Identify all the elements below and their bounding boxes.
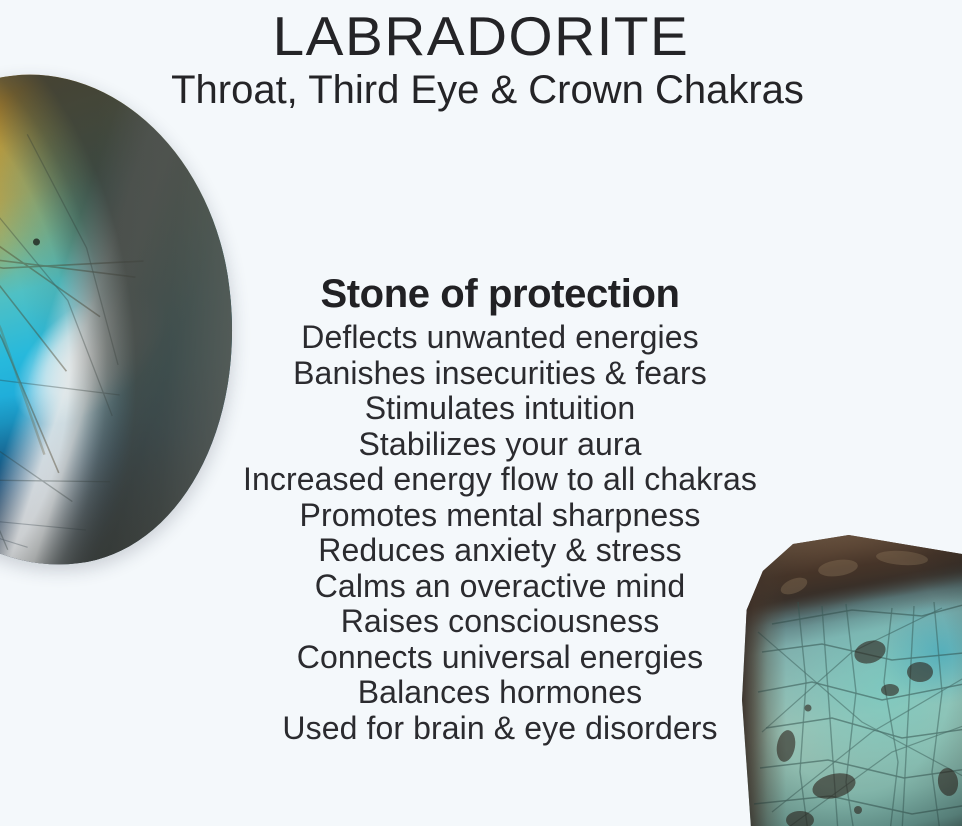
benefit-item: Raises consciousness bbox=[0, 604, 962, 640]
benefit-item: Calms an overactive mind bbox=[0, 569, 962, 605]
benefit-item: Balances hormones bbox=[0, 675, 962, 711]
benefit-item: Reduces anxiety & stress bbox=[0, 533, 962, 569]
benefit-item: Increased energy flow to all chakras bbox=[0, 462, 962, 498]
benefits-block: Stone of protection Deflects unwanted en… bbox=[0, 270, 962, 746]
benefit-item: Stabilizes your aura bbox=[0, 427, 962, 463]
benefit-item: Deflects unwanted energies bbox=[0, 320, 962, 356]
benefit-item: Banishes insecurities & fears bbox=[0, 356, 962, 392]
benefit-item: Connects universal energies bbox=[0, 640, 962, 676]
page-subtitle: Throat, Third Eye & Crown Chakras bbox=[0, 66, 962, 114]
infographic-canvas: LABRADORITE Throat, Third Eye & Crown Ch… bbox=[0, 0, 962, 826]
benefit-item: Promotes mental sharpness bbox=[0, 498, 962, 534]
benefit-item: Stimulates intuition bbox=[0, 391, 962, 427]
benefits-heading: Stone of protection bbox=[0, 270, 962, 318]
benefit-item: Used for brain & eye disorders bbox=[0, 711, 962, 747]
page-title: LABRADORITE bbox=[0, 6, 962, 66]
